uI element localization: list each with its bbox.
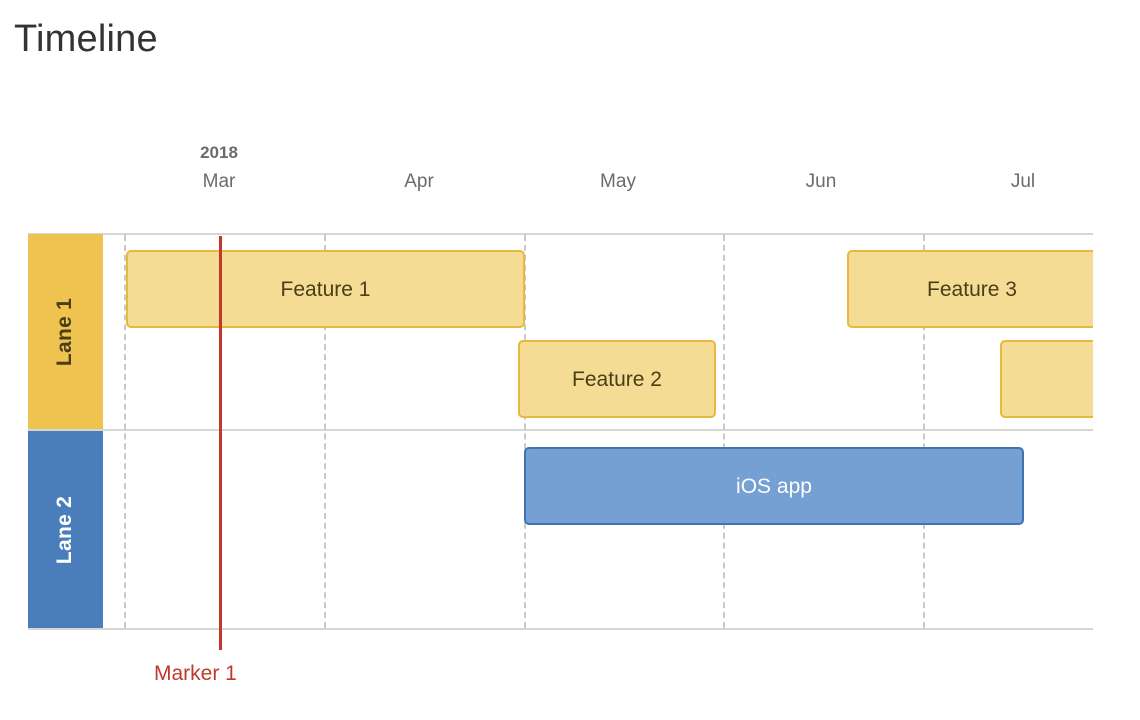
timeline-chart: Timeline 2018Mar Apr May Jun Jul Lane 1 … bbox=[0, 0, 1140, 720]
task-bar-feature-3[interactable]: Feature 3 bbox=[847, 250, 1093, 328]
axis-month-label: Mar bbox=[159, 163, 279, 195]
lane-body-lane-1: Feature 1Feature 2Feature 3 bbox=[103, 234, 1093, 429]
task-bar-label: iOS app bbox=[736, 476, 812, 497]
task-bar-label: Feature 2 bbox=[572, 369, 662, 390]
lane-label: Lane 2 bbox=[53, 495, 77, 563]
axis-tick-may: May bbox=[558, 143, 678, 195]
plot-bottom-border bbox=[28, 628, 1093, 630]
task-bar-feature-1[interactable]: Feature 1 bbox=[126, 250, 525, 328]
axis-tick-jul: Jul bbox=[963, 143, 1083, 195]
lane-header-lane-1[interactable]: Lane 1 bbox=[28, 234, 103, 429]
task-bar-ios-app[interactable]: iOS app bbox=[524, 447, 1024, 525]
task-bar[interactable] bbox=[1000, 340, 1093, 418]
axis-month-label: Jun bbox=[761, 163, 881, 195]
axis-year-label: 2018 bbox=[159, 143, 279, 163]
task-bar-label: Feature 3 bbox=[927, 279, 1017, 300]
task-bar-feature-2[interactable]: Feature 2 bbox=[518, 340, 716, 418]
task-bar-label: Feature 1 bbox=[281, 279, 371, 300]
axis-month-label: Apr bbox=[359, 163, 479, 195]
axis-tick-apr: Apr bbox=[359, 143, 479, 195]
axis-month-label: May bbox=[558, 163, 678, 195]
marker-line[interactable] bbox=[219, 236, 222, 650]
axis-month-label: Jul bbox=[963, 163, 1083, 195]
lane-label: Lane 1 bbox=[53, 297, 77, 365]
axis-tick-mar: 2018Mar bbox=[159, 143, 279, 195]
lane-body-lane-2: iOS app bbox=[103, 431, 1093, 628]
page-title: Timeline bbox=[14, 20, 158, 58]
timeline-axis: 2018Mar Apr May Jun Jul bbox=[0, 143, 1140, 203]
marker-label[interactable]: Marker 1 bbox=[154, 663, 237, 684]
plot-area: Lane 1 Feature 1Feature 2Feature 3 Lane … bbox=[28, 233, 1093, 630]
lane-header-lane-2[interactable]: Lane 2 bbox=[28, 431, 103, 628]
axis-tick-jun: Jun bbox=[761, 143, 881, 195]
